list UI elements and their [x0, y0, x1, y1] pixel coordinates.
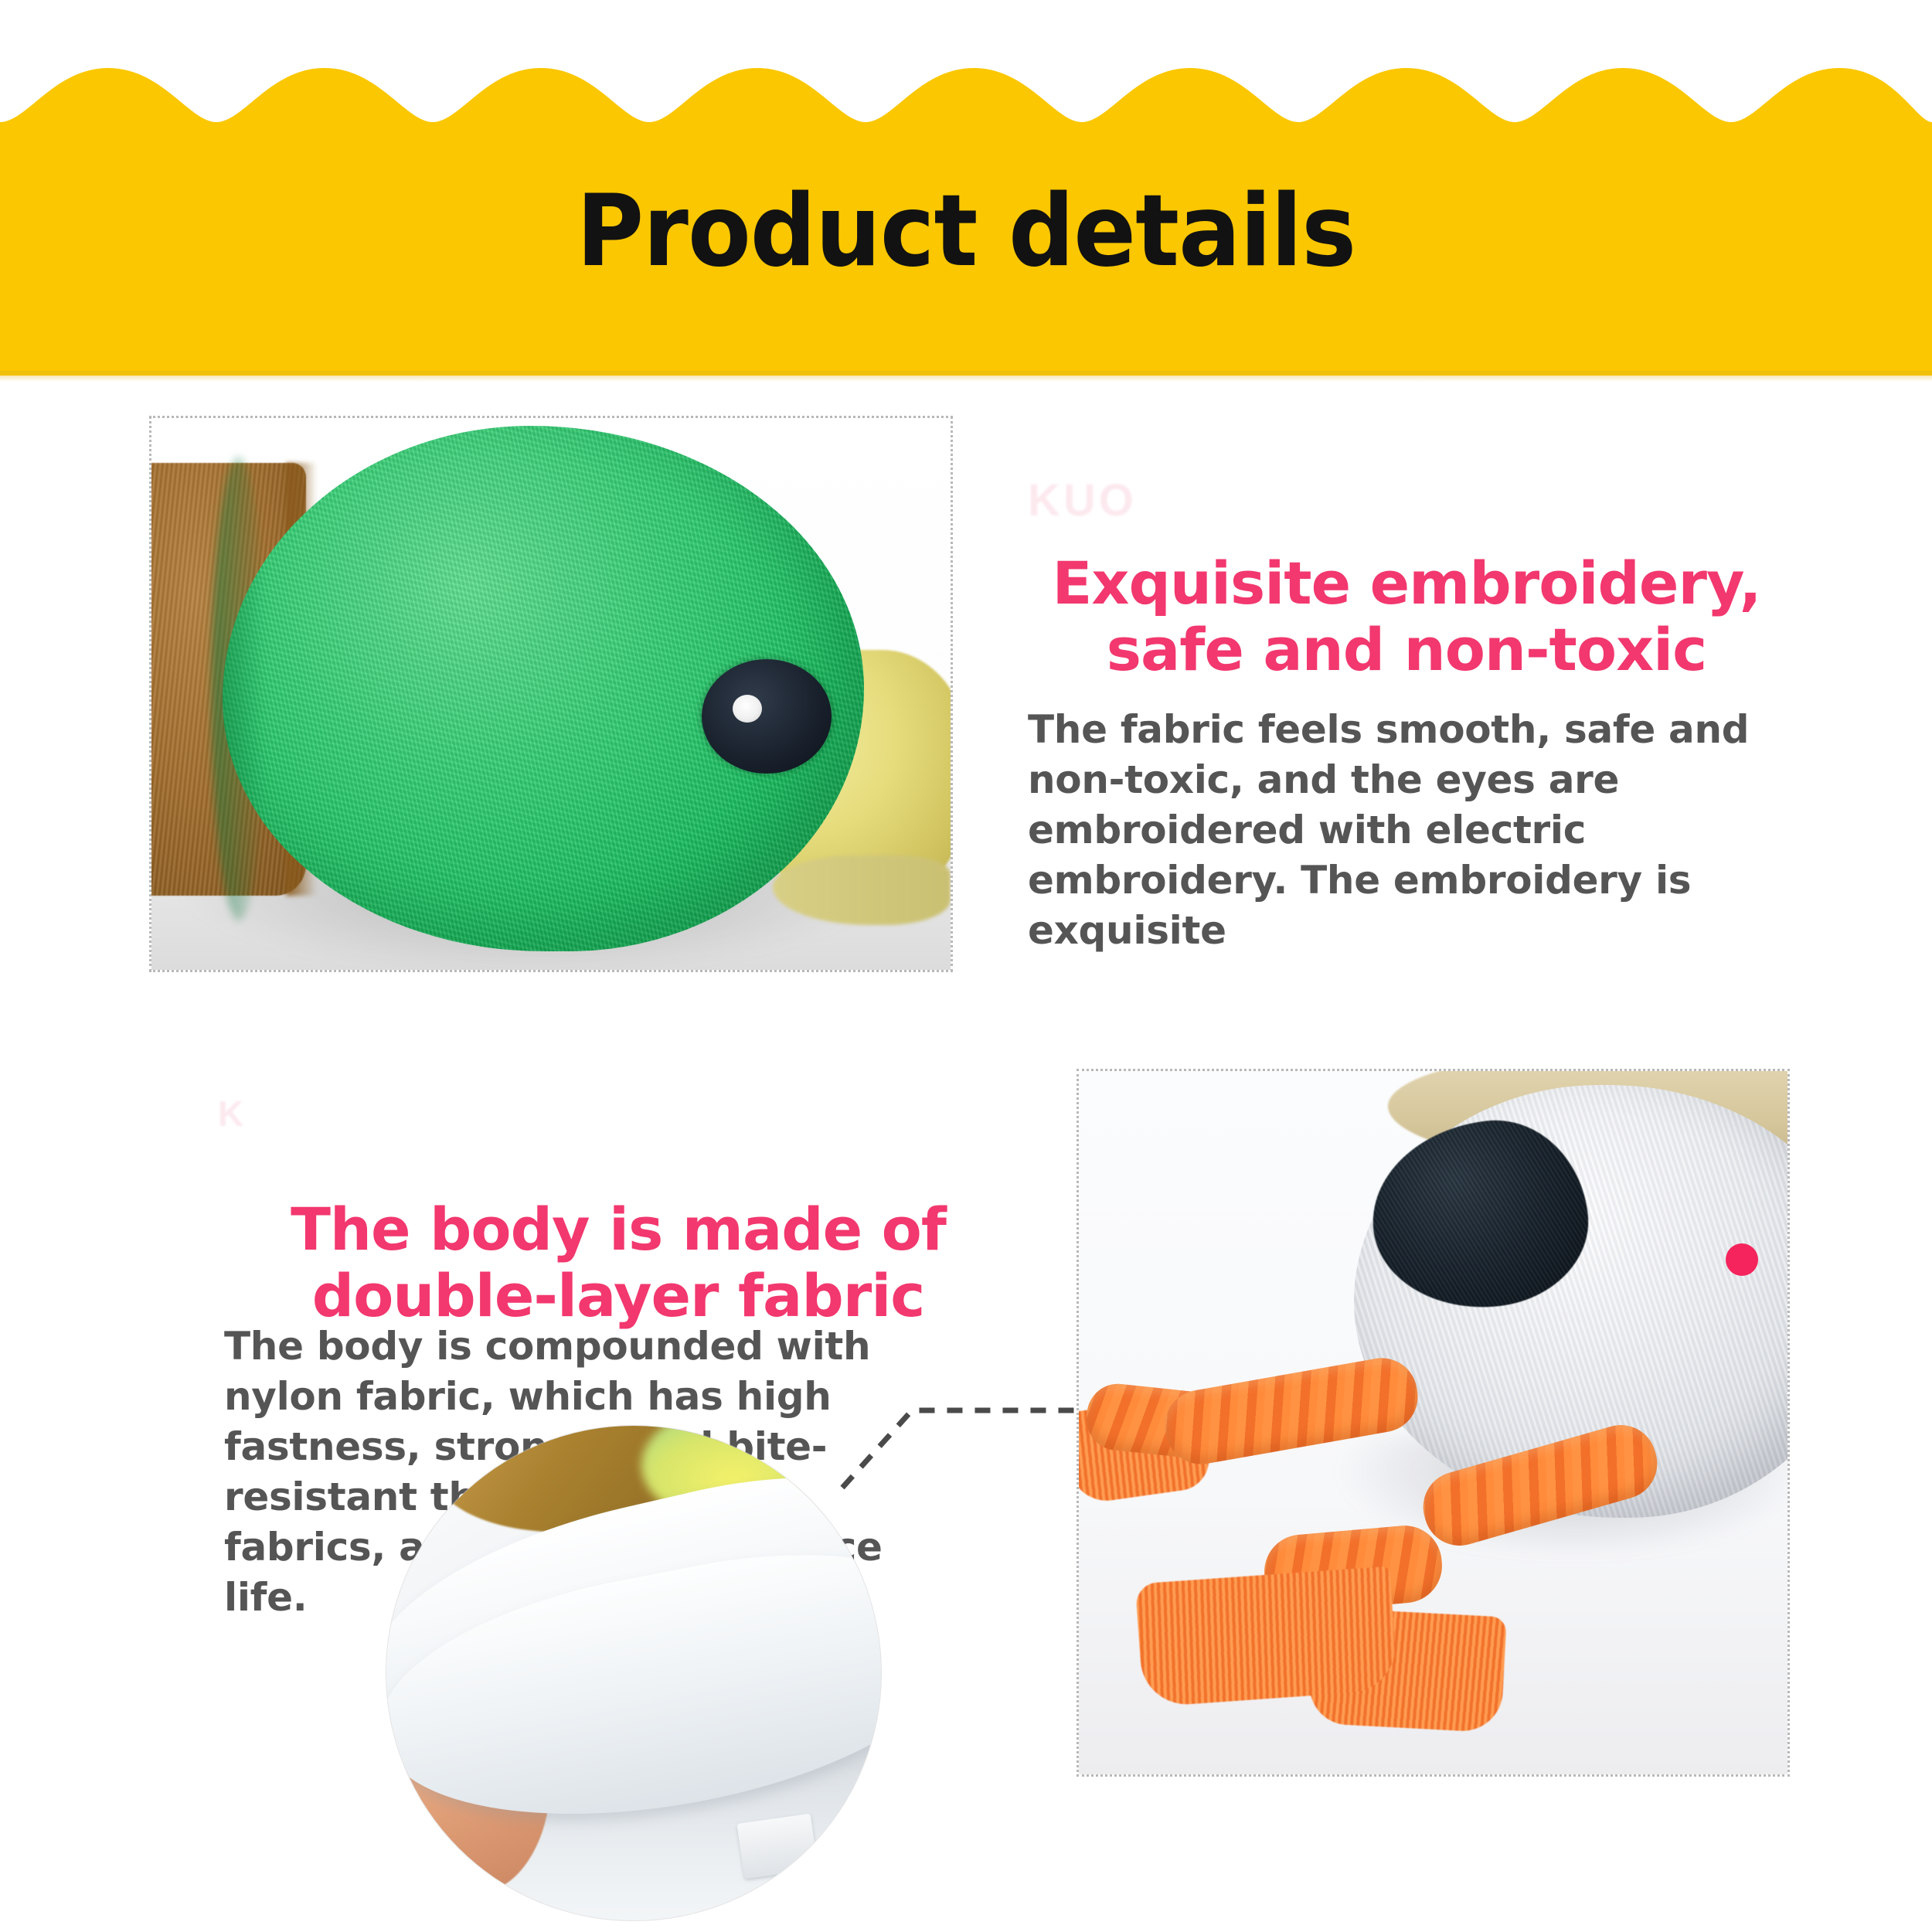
- fabric-care-tag: [736, 1814, 818, 1879]
- section-body-embroidery: The fabric feels smooth, safe and non-to…: [1028, 705, 1770, 956]
- duck-embroidered-eye: [702, 659, 832, 774]
- photo-duck-body-content: [1079, 1071, 1787, 1774]
- rope-tassel-bottom: [1135, 1566, 1398, 1708]
- product-detail-page: Product details KUO Exquisite embroidery…: [0, 0, 1932, 1932]
- ghost-watermark-1: KUO: [1028, 474, 1137, 526]
- banner-bottom-shadow: [0, 371, 1932, 382]
- photo-fabric-inset[interactable]: [386, 1426, 881, 1920]
- page-title: Product details: [68, 182, 1865, 281]
- photo-duck-head[interactable]: [149, 416, 953, 972]
- section-heading-embroidery: Exquisite embroidery, safe and non-toxic: [1028, 550, 1785, 683]
- marker-dot[interactable]: [1723, 1241, 1760, 1278]
- section-heading-double-layer: The body is made of double-layer fabric: [220, 1196, 1016, 1329]
- header-banner: Product details: [0, 0, 1932, 376]
- photo-duck-body[interactable]: [1077, 1069, 1790, 1777]
- photo-duck-head-content: [151, 418, 951, 970]
- duck-green-head: [223, 426, 864, 951]
- eye-glint: [733, 695, 762, 723]
- ghost-watermark-2: K: [218, 1093, 247, 1134]
- marker-dot-circle: [1726, 1243, 1758, 1276]
